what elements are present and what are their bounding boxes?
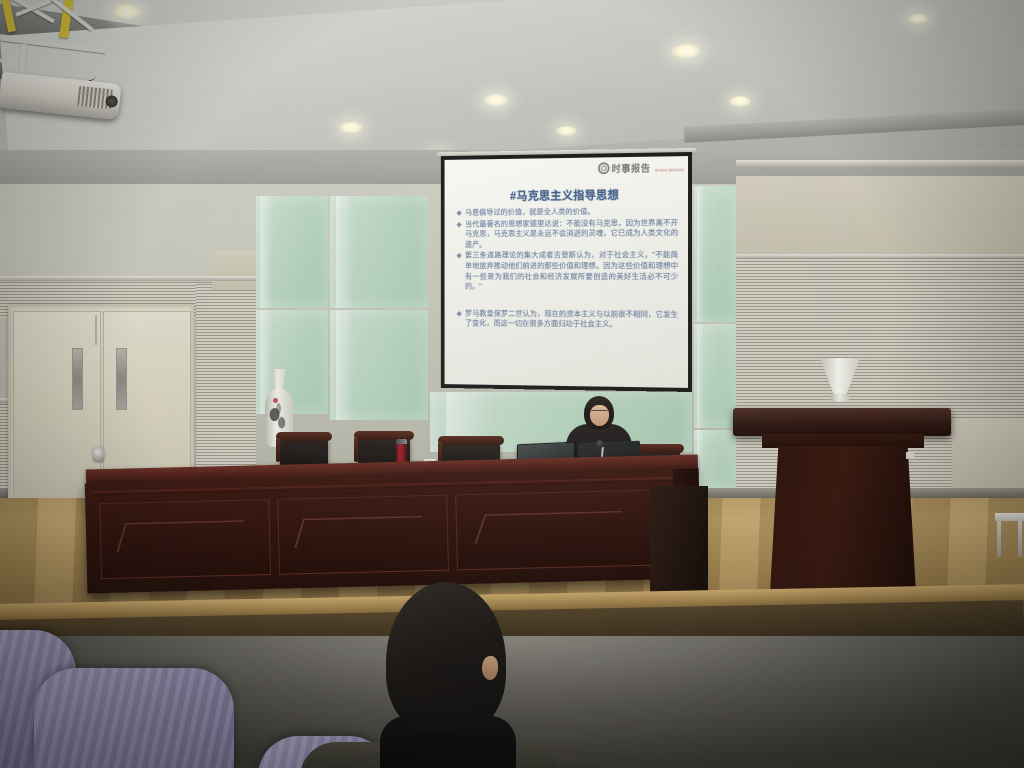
table-panel xyxy=(277,495,449,575)
downlight-icon xyxy=(671,44,701,59)
wall-panel-mint xyxy=(330,310,428,420)
door-handle-icon[interactable] xyxy=(93,447,104,461)
vase-painting xyxy=(268,401,290,435)
wall-panel-beige xyxy=(736,176,1024,258)
vase-flower-icon xyxy=(273,398,278,403)
projector-rail xyxy=(0,0,16,32)
projection-screen: 时事报告 SHISHI BAOGAO #马克思主义指导思想 ◆ 马恩倡导过的价值… xyxy=(441,152,692,392)
wall-panel-stripe xyxy=(196,284,256,470)
downlight-icon xyxy=(483,94,509,107)
eyeglasses-icon xyxy=(591,410,608,415)
slide-bullet-text: 罗马教皇保罗二世认为，现在的资本主义与以前很不相同，它发生了变化，而这一切在很多… xyxy=(465,309,678,329)
lecture-hall-photo: 时事报告 SHISHI BAOGAO #马克思主义指导思想 ◆ 马恩倡导过的价值… xyxy=(0,0,1024,768)
door-glass-panel xyxy=(72,348,83,410)
lectern-neck xyxy=(762,434,924,448)
table-panel xyxy=(99,499,271,579)
logo-subtext: SHISHI BAOGAO xyxy=(655,168,684,172)
wall-trim xyxy=(0,276,256,281)
bullet-marker-icon: ◆ xyxy=(457,220,462,230)
wall-panel-mint xyxy=(256,196,328,308)
side-table-leg xyxy=(997,521,1001,557)
slide-bullet: ◆ 当代最著名的思想家德里达说：不能没有马克思，因为世界离不开马克思，马克思主义… xyxy=(457,218,678,250)
slide-bullet: ◆ 罗马教皇保罗二世认为，现在的资本主义与以前很不相同，它发生了变化，而这一切在… xyxy=(457,309,678,331)
audience-member-head xyxy=(386,582,506,732)
circle-eye-logo-icon xyxy=(598,162,610,174)
table-carving xyxy=(475,511,634,544)
thermos-cap xyxy=(396,439,407,444)
slide-bullet-text: 马恩倡导过的价值，就是全人类的价值。 xyxy=(465,207,595,217)
downlight-icon xyxy=(339,122,363,134)
wall-panel-mint xyxy=(694,430,736,488)
downlight-icon xyxy=(556,126,577,136)
side-table xyxy=(995,513,1024,557)
projector-arm xyxy=(0,36,106,54)
slide-title: #马克思主义指导思想 xyxy=(445,186,688,204)
lectern-top xyxy=(733,408,951,436)
wall-panel-beige xyxy=(952,420,1024,490)
slide-bullet: ◆ 第三条道路理论的集大成者吉登斯认为，对于社会主义，"不能简单地放弃推动他们前… xyxy=(457,250,678,292)
presenter-head xyxy=(584,396,614,430)
white-urn-vase xyxy=(820,358,860,404)
wall-panel-mint xyxy=(694,324,736,428)
projector-lens-icon xyxy=(105,95,118,108)
table-panel xyxy=(455,490,653,571)
downlight-icon xyxy=(908,14,928,24)
door-closer-rod xyxy=(95,315,97,345)
slide-body: ◆ 马恩倡导过的价值，就是全人类的价值。 ◆ 当代最著名的思想家德里达说：不能没… xyxy=(457,206,678,332)
vase-neck xyxy=(272,369,286,391)
side-table-leg xyxy=(1018,521,1022,557)
slide-bullet-text: 第三条道路理论的集大成者吉登斯认为，对于社会主义，"不能简单地放弃推动他们前进的… xyxy=(465,250,678,290)
side-table-top xyxy=(995,513,1024,521)
bullet-marker-icon: ◆ xyxy=(457,252,462,262)
projector-mount xyxy=(0,0,130,110)
logo-text: 时事报告 xyxy=(611,164,650,175)
bullet-marker-icon: ◆ xyxy=(457,310,462,320)
wall-panel-mint xyxy=(330,196,428,308)
slide-surface: 时事报告 SHISHI BAOGAO #马克思主义指导思想 ◆ 马恩倡导过的价值… xyxy=(445,156,688,388)
table-carving xyxy=(116,520,254,552)
urn-bowl xyxy=(820,358,860,396)
broadcaster-logo: 时事报告 SHISHI BAOGAO xyxy=(598,158,684,177)
downlight-icon xyxy=(729,96,751,107)
door-glass-panel xyxy=(116,348,127,410)
wall-trim xyxy=(736,160,1024,168)
audience-ear xyxy=(482,656,498,680)
bullet-marker-icon: ◆ xyxy=(457,209,462,219)
audience-seat xyxy=(34,668,234,768)
table-carving xyxy=(294,516,432,548)
slide-bullet-text: 当代最著名的思想家德里达说：不能没有马克思，因为世界离不开马克思，马克思主义是永… xyxy=(465,218,678,249)
slide-bullet: ◆ 马恩倡导过的价值，就是全人类的价值。 xyxy=(457,206,678,218)
presenter-face xyxy=(590,405,609,426)
lectern-badge xyxy=(906,452,914,459)
urn-foot xyxy=(831,394,849,402)
wall-panel-mint xyxy=(694,186,736,322)
microphone-icon xyxy=(596,440,604,448)
screen-frame: 时事报告 SHISHI BAOGAO #马克思主义指导思想 ◆ 马恩倡导过的价值… xyxy=(441,152,692,392)
